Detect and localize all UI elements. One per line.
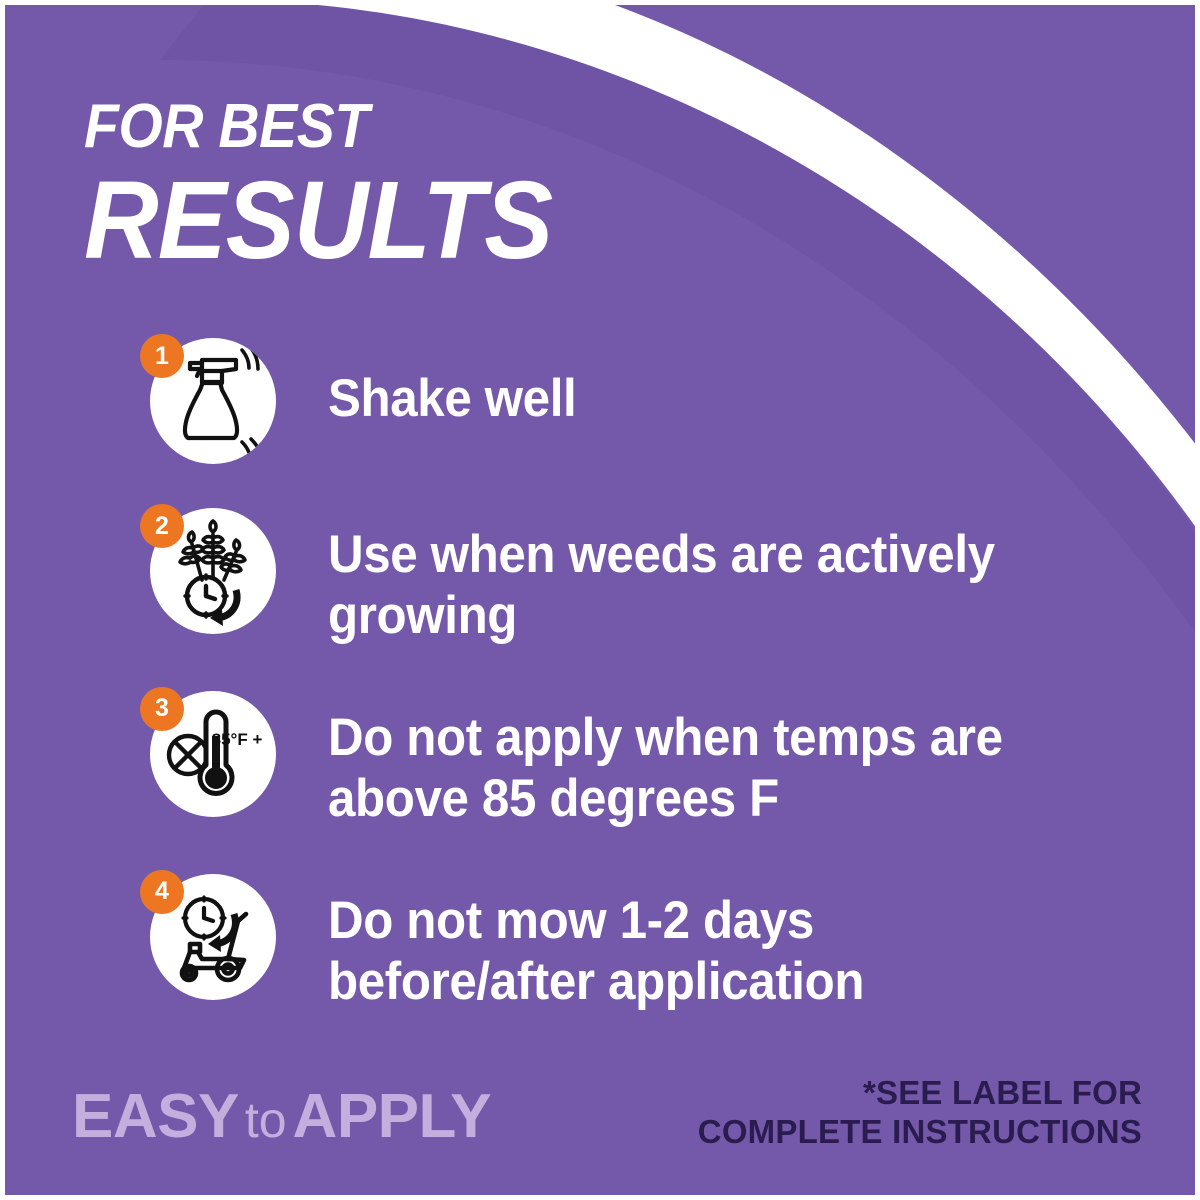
for-best-results-poster: FOR BEST RESULTS (0, 0, 1200, 1200)
list-item: 4 Do not mow 1-2 days before/after appli… (150, 874, 1150, 1013)
step-3-number-badge: 3 (140, 687, 184, 731)
step-2-label: Use when weeds are actively growing (328, 508, 1092, 647)
step-2-icon-wrap: 2 (150, 508, 276, 634)
tagline-easy: EASY (72, 1082, 239, 1151)
list-item: 2 Use when weeds are actively growing (150, 508, 1150, 647)
step-1-number-badge: 1 (140, 334, 184, 378)
step-3-icon-temp-label: 85°F + (212, 730, 263, 749)
step-2-number-badge: 2 (140, 504, 184, 548)
tagline-to: to (239, 1092, 293, 1148)
disclaimer-line2: COMPLETE INSTRUCTIONS (698, 1113, 1142, 1152)
page-title-line2: RESULTS (84, 166, 552, 276)
step-4-icon-wrap: 4 (150, 874, 276, 1000)
step-1-icon-wrap: 1 (150, 338, 276, 464)
step-4-number-badge: 4 (140, 870, 184, 914)
disclaimer-line1: *SEE LABEL FOR (698, 1074, 1142, 1113)
disclaimer: *SEE LABEL FOR COMPLETE INSTRUCTIONS (698, 1074, 1142, 1152)
list-item: 1 Shake well (150, 338, 1150, 464)
list-item: 85°F + 3 Do not apply when temps are abo… (150, 691, 1150, 830)
step-3-label: Do not apply when temps are above 85 deg… (328, 691, 1092, 830)
instruction-steps-list: 1 Shake well (150, 338, 1150, 1057)
tagline-apply: APPLY (293, 1082, 492, 1151)
step-4-label: Do not mow 1-2 days before/after applica… (328, 874, 1092, 1013)
step-1-label: Shake well (328, 338, 576, 429)
step-3-icon-wrap: 85°F + 3 (150, 691, 276, 817)
page-title: FOR BEST RESULTS (84, 96, 582, 276)
easy-to-apply-tagline: EASYtoAPPLY (72, 1086, 491, 1148)
page-title-line1: FOR BEST (84, 96, 542, 158)
